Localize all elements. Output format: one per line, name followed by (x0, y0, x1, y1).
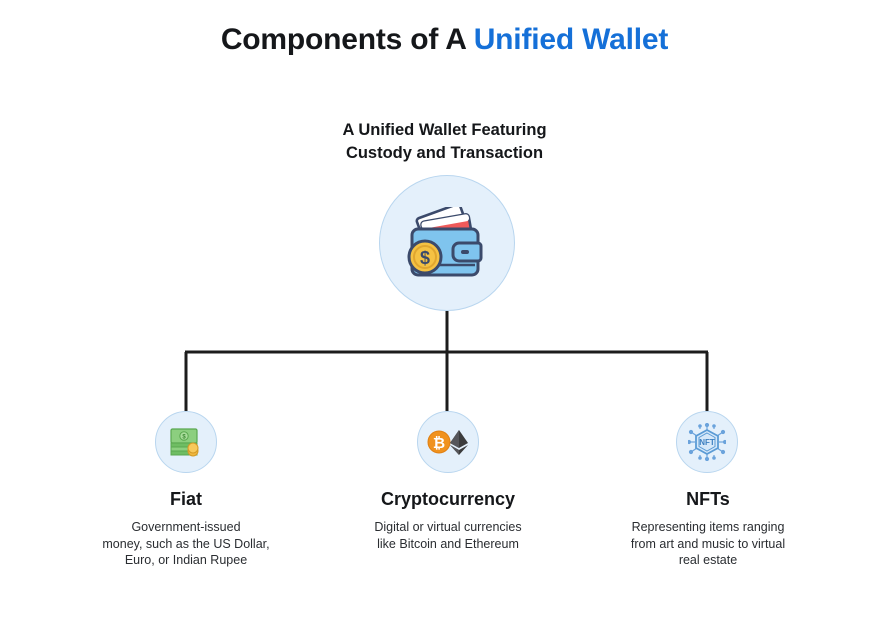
node-desc-line: real estate (588, 552, 828, 569)
root-caption-line-2: Custody and Transaction (0, 142, 889, 165)
node-desc-line: Representing items ranging (588, 519, 828, 536)
node-label-cryptocurrency: Cryptocurrency (328, 487, 568, 511)
bitcoin-ethereum-icon: ₿ (427, 427, 469, 457)
page-title-lead: Components of A (221, 23, 474, 56)
svg-text:$: $ (420, 248, 430, 268)
node-circle-nfts: NFT (676, 411, 738, 473)
node-desc-cryptocurrency: Digital or virtual currencies like Bitco… (328, 519, 568, 552)
node-desc-nfts: Representing items ranging from art and … (588, 519, 828, 569)
root-caption-line-1: A Unified Wallet Featuring (0, 119, 889, 142)
node-desc-line: money, such as the US Dollar, (66, 536, 306, 553)
root-node-circle: $ (379, 175, 515, 311)
diagram-canvas: Components of A Unified Wallet A Unified… (0, 0, 889, 632)
node-text-nfts: NFTs Representing items ranging from art… (588, 487, 828, 569)
node-text-fiat: Fiat Government-issued money, such as th… (66, 487, 306, 569)
svg-text:NFT: NFT (699, 438, 715, 447)
node-desc-line: Digital or virtual currencies (328, 519, 568, 536)
node-desc-line: like Bitcoin and Ethereum (328, 536, 568, 553)
nft-chip-icon: NFT (688, 423, 726, 461)
page-title: Components of A Unified Wallet (0, 23, 889, 57)
node-circle-fiat: $ (155, 411, 217, 473)
svg-text:₿: ₿ (433, 435, 445, 452)
node-label-nfts: NFTs (588, 487, 828, 511)
root-node-caption: A Unified Wallet Featuring Custody and T… (0, 119, 889, 165)
node-desc-line: from art and music to virtual (588, 536, 828, 553)
wallet-icon: $ (404, 207, 490, 279)
node-desc-fiat: Government-issued money, such as the US … (66, 519, 306, 569)
node-text-cryptocurrency: Cryptocurrency Digital or virtual curren… (328, 487, 568, 552)
node-desc-line: Government-issued (66, 519, 306, 536)
node-circle-cryptocurrency: ₿ (417, 411, 479, 473)
node-label-fiat: Fiat (66, 487, 306, 511)
money-bills-icon: $ (169, 426, 203, 458)
page-title-accent: Unified Wallet (474, 23, 668, 56)
node-desc-line: Euro, or Indian Rupee (66, 552, 306, 569)
